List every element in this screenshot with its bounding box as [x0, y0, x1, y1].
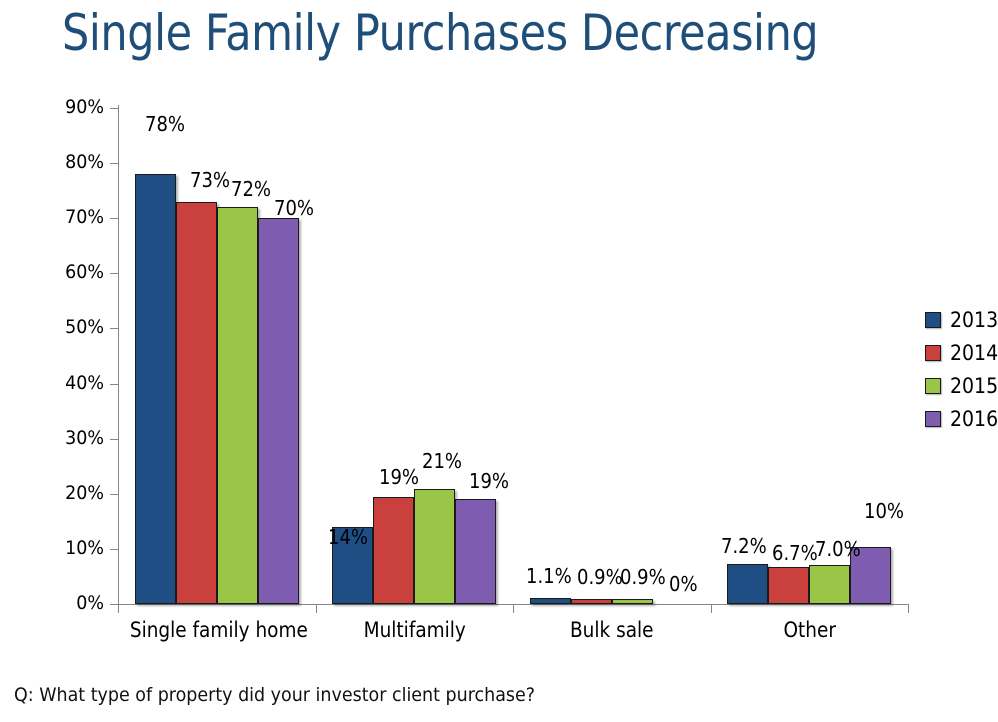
y-tick-mark — [110, 549, 118, 550]
bar-single-family-home-2013[interactable] — [135, 174, 176, 604]
category-label-single-family-home: Single family home — [130, 618, 304, 642]
y-tick-label: 60% — [34, 261, 104, 281]
legend-swatch-icon — [925, 312, 941, 328]
legend-swatch-icon — [925, 378, 941, 394]
y-tick-label-text: 10% — [45, 537, 104, 559]
x-tick-mark — [513, 604, 514, 613]
y-tick-mark — [110, 384, 118, 385]
category-label-other: Other — [722, 618, 896, 642]
bar-value-label: 1.1% — [526, 564, 572, 588]
y-tick-label: 40% — [34, 372, 104, 392]
y-tick-mark — [110, 273, 118, 274]
legend-item-label: 2014 — [950, 341, 998, 365]
y-tick-mark — [110, 218, 118, 219]
y-tick-mark — [110, 494, 118, 495]
y-tick-label: 90% — [34, 96, 104, 116]
y-tick-label: 50% — [34, 316, 104, 336]
y-tick-label-text: 80% — [45, 151, 104, 173]
y-tick-label-text: 0% — [45, 592, 104, 614]
y-tick-label: 70% — [34, 206, 104, 226]
y-tick-label: 10% — [34, 537, 104, 557]
bar-multifamily-2015[interactable] — [414, 489, 455, 604]
bar-bulk-sale-2014[interactable] — [571, 599, 612, 604]
bar-single-family-home-2014[interactable] — [176, 202, 217, 604]
chart-legend: 2013201420152016 — [925, 303, 998, 435]
y-tick-label-text: 20% — [45, 482, 104, 504]
legend-item-2016[interactable]: 2016 — [925, 402, 998, 435]
legend-swatch-icon — [925, 411, 941, 427]
legend-swatch-icon — [925, 345, 941, 361]
y-tick-label: 0% — [34, 592, 104, 612]
footer-question: Q: What type of property did your invest… — [14, 684, 535, 706]
bar-value-label: 72% — [231, 177, 271, 201]
bar-multifamily-2016[interactable] — [455, 499, 496, 604]
y-tick-mark — [110, 604, 118, 605]
bar-single-family-home-2016[interactable] — [258, 218, 299, 604]
y-tick-label-text: 30% — [45, 427, 104, 449]
bar-multifamily-2014[interactable] — [373, 497, 414, 604]
x-tick-mark — [711, 604, 712, 613]
bar-bulk-sale-2013[interactable] — [530, 598, 571, 604]
y-tick-mark — [110, 108, 118, 109]
bar-value-label: 0.9% — [577, 565, 623, 589]
y-tick-mark — [110, 163, 118, 164]
y-tick-label-text: 90% — [45, 96, 104, 118]
y-tick-label-text: 40% — [45, 372, 104, 394]
bar-other-2014[interactable] — [768, 567, 809, 604]
bar-value-label: 6.7% — [772, 541, 818, 565]
bar-other-2015[interactable] — [809, 565, 850, 604]
y-tick-label-text: 70% — [45, 206, 104, 228]
x-tick-mark — [118, 604, 119, 613]
bar-single-family-home-2015[interactable] — [217, 207, 258, 604]
category-label-multifamily: Multifamily — [327, 618, 501, 642]
bar-value-label: 7.0% — [815, 537, 861, 561]
legend-item-label: 2015 — [950, 374, 998, 398]
category-label-bulk-sale: Bulk sale — [525, 618, 699, 642]
y-tick-label-text: 50% — [45, 316, 104, 338]
bar-value-label: 7.2% — [721, 534, 767, 558]
page-title: Single Family Purchases Decreasing — [62, 8, 818, 58]
bar-value-label: 73% — [190, 168, 230, 192]
bar-bulk-sale-2015[interactable] — [612, 599, 653, 604]
bar-value-label: 70% — [274, 196, 314, 220]
bar-other-2013[interactable] — [727, 564, 768, 604]
legend-item-label: 2016 — [950, 407, 998, 431]
legend-item-label: 2013 — [950, 308, 998, 332]
y-tick-label: 30% — [34, 427, 104, 447]
legend-item-2015[interactable]: 2015 — [925, 369, 998, 402]
x-tick-mark — [316, 604, 317, 613]
legend-item-2014[interactable]: 2014 — [925, 336, 998, 369]
bar-value-label: 78% — [145, 112, 185, 136]
y-tick-label: 80% — [34, 151, 104, 171]
bar-value-label: 19% — [469, 469, 509, 493]
y-tick-label: 20% — [34, 482, 104, 502]
bar-value-label: 19% — [379, 465, 419, 489]
bar-value-label: 0% — [669, 572, 698, 596]
y-axis-line — [118, 105, 119, 605]
bar-value-label: 0.9% — [620, 565, 666, 589]
bar-value-label: 14% — [328, 525, 368, 549]
bar-value-label: 21% — [422, 449, 462, 473]
y-tick-mark — [110, 439, 118, 440]
x-tick-mark — [908, 604, 909, 613]
legend-item-2013[interactable]: 2013 — [925, 303, 998, 336]
y-tick-label-text: 60% — [45, 261, 104, 283]
y-tick-mark — [110, 328, 118, 329]
bar-value-label: 10% — [864, 499, 904, 523]
